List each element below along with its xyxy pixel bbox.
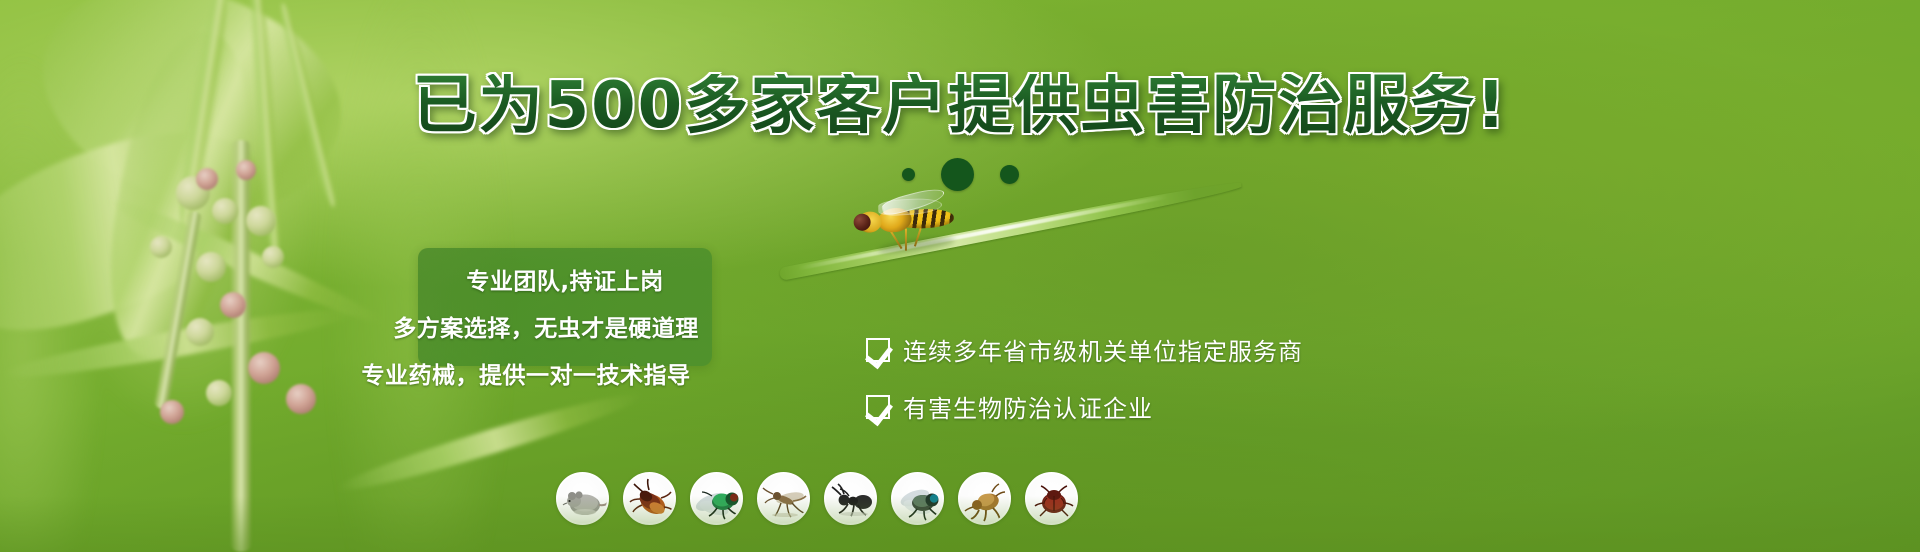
flea-icon[interactable] [958, 472, 1011, 525]
pest-icon-row [556, 472, 1078, 525]
ant-icon[interactable] [824, 472, 877, 525]
list-item: 有害生物防治认证企业 [866, 389, 1303, 424]
selling-point-2: 多方案选择，无虫才是硬道理 [380, 309, 712, 343]
mosquito-icon[interactable] [757, 472, 810, 525]
cockroach-icon[interactable] [623, 472, 676, 525]
pest-control-hero-banner: 已为500多家客户提供虫害防治服务! 专业团队,持证上岗 多方案选择，无虫才是硬… [0, 0, 1920, 552]
credentials-checklist: 连续多年省市级机关单位指定服务商 有害生物防治认证企业 [866, 332, 1303, 446]
decor-dot-large [941, 158, 974, 191]
decor-dot-medium [1000, 165, 1019, 184]
credential-text: 连续多年省市级机关单位指定服务商 [903, 332, 1303, 367]
list-item: 连续多年省市级机关单位指定服务商 [866, 332, 1303, 367]
rodent-icon[interactable] [556, 472, 609, 525]
housefly-icon[interactable] [891, 472, 944, 525]
decor-dot-small [902, 168, 915, 181]
checkbox-checked-icon [866, 338, 890, 362]
selling-point-3: 专业药械，提供一对一技术指导 [340, 356, 712, 390]
page-title: 已为500多家客户提供虫害防治服务! [0, 74, 1920, 138]
bedbug-icon[interactable] [1025, 472, 1078, 525]
decor-dot-group [0, 158, 1920, 191]
selling-point-1: 专业团队,持证上岗 [418, 262, 712, 296]
selling-points-panel: 专业团队,持证上岗 多方案选择，无虫才是硬道理 专业药械，提供一对一技术指导 [418, 248, 712, 366]
credential-text: 有害生物防治认证企业 [903, 389, 1153, 424]
checkbox-checked-icon [866, 395, 890, 419]
blowfly-icon[interactable] [690, 472, 743, 525]
